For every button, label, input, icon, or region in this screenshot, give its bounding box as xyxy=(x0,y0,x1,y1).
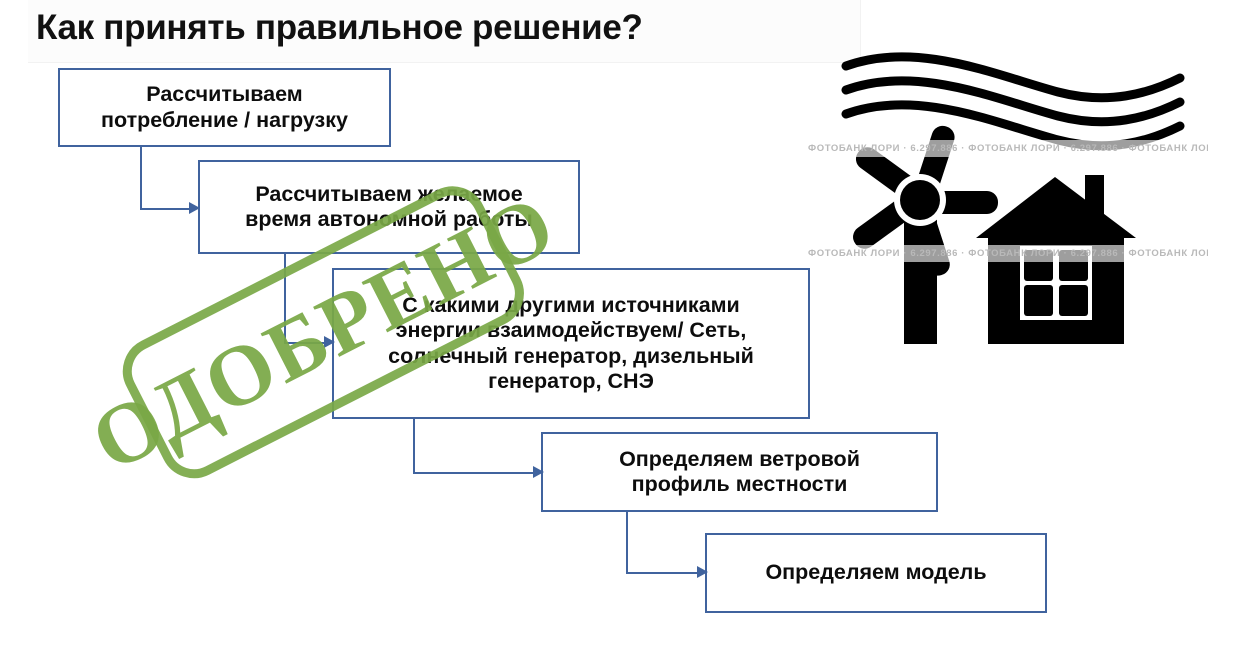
flow-step-1[interactable]: Рассчитываем потребление / нагрузку xyxy=(58,68,391,147)
slide-canvas: Как принять правильное решение? Рассчиты… xyxy=(0,0,1235,647)
wind-wave-lines xyxy=(846,57,1180,146)
page-title: Как принять правильное решение? xyxy=(36,8,643,48)
flow-step-4-label: Определяем ветровой профиль местности xyxy=(619,447,860,498)
arrow-head-icon xyxy=(533,466,544,478)
connector-horizontal-segment xyxy=(626,572,701,574)
flow-step-1-label: Рассчитываем потребление / нагрузку xyxy=(101,82,348,133)
arrow-head-icon xyxy=(189,202,200,214)
wind-turbine xyxy=(849,123,998,344)
flow-step-4[interactable]: Определяем ветровой профиль местности xyxy=(541,432,938,512)
connector-vertical-segment xyxy=(626,512,628,574)
flow-step-5-label: Определяем модель xyxy=(765,560,986,585)
connector-horizontal-segment xyxy=(413,472,536,474)
connector-vertical-segment xyxy=(413,419,415,474)
arrow-head-icon xyxy=(697,566,708,578)
connector-horizontal-segment xyxy=(140,208,191,210)
wind-turbine-house-illustration: ФОТОБАНК ЛОРИ · 6.297.886 · ФОТОБАНК ЛОР… xyxy=(808,42,1208,358)
connector-vertical-segment xyxy=(140,147,142,210)
flow-step-5[interactable]: Определяем модель xyxy=(705,533,1047,613)
